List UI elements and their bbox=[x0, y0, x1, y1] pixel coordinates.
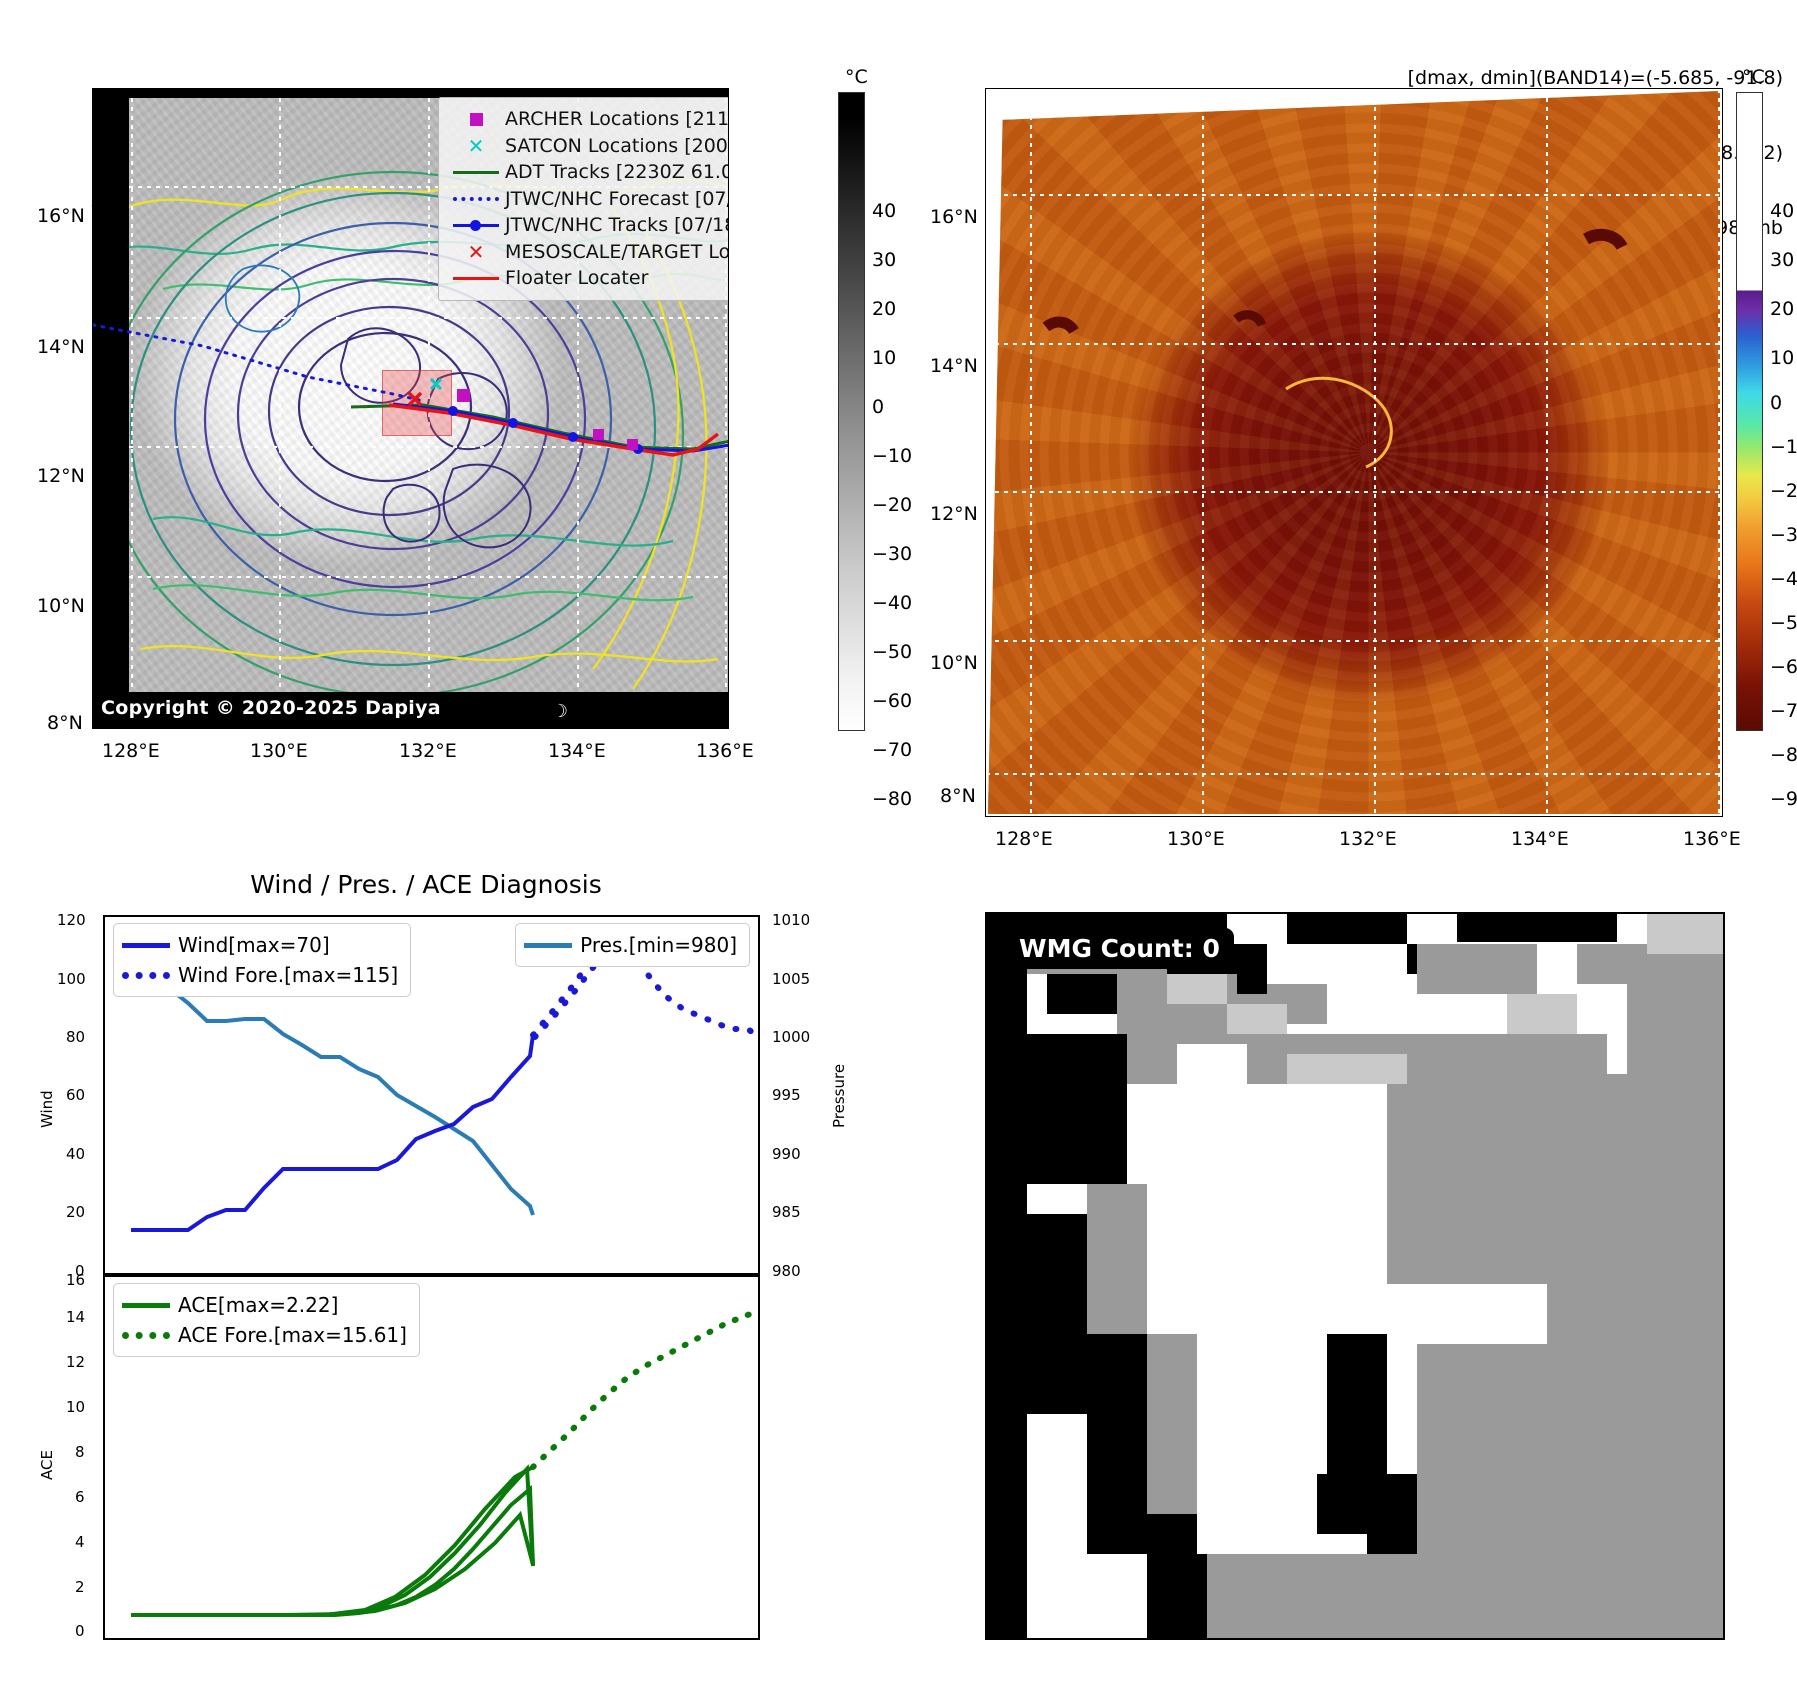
wind-pres-ace-title: Wind / Pres. / ACE Diagnosis bbox=[92, 870, 760, 899]
p1-ytick-12N: 12°N bbox=[37, 465, 85, 487]
panel-wmg-mask[interactable]: WMG Count: 0 bbox=[985, 912, 1725, 1640]
wind-axis-title: Wind bbox=[38, 1090, 56, 1128]
pres-ytick-1010: 1010 bbox=[772, 911, 810, 929]
p2-graticule-130E bbox=[1202, 89, 1204, 816]
p2-cbtick-12: −80 bbox=[1770, 744, 1797, 766]
p2-cbtick-4: 0 bbox=[1770, 392, 1782, 414]
p1-cbtick-4: 0 bbox=[872, 396, 884, 418]
awv-eye-features bbox=[986, 89, 1723, 817]
legend-item-floater[interactable]: Floater Locater bbox=[447, 265, 729, 292]
dashboard-root: HIMAWARI-8 BAND14-DIAS TARGET AREA Time:… bbox=[0, 0, 1797, 1690]
p1-cbtick-5: −10 bbox=[872, 445, 912, 467]
p2-ytick-12N: 12°N bbox=[930, 503, 978, 525]
ace-ytick-4: 4 bbox=[75, 1533, 85, 1551]
wmg-mask-image bbox=[987, 914, 1723, 1638]
p1-colorbar bbox=[838, 92, 865, 731]
moon-phase-icon: ☽ bbox=[552, 701, 568, 722]
legend-item-satcon[interactable]: ✕ SATCON Locations [2000Z 71 982] bbox=[447, 133, 729, 160]
p1-xtick-136E: 136°E bbox=[696, 740, 754, 762]
legend-label-jtwc-forecast: JTWC/NHC Forecast [07/1800Z] bbox=[505, 186, 729, 213]
p2-cbtick-8: −40 bbox=[1770, 568, 1797, 590]
ace-ytick-12: 12 bbox=[66, 1353, 85, 1371]
wind-forecast-line-icon bbox=[122, 972, 178, 979]
p1-colorbar-unit: °C bbox=[845, 66, 868, 88]
legend-item-wind[interactable]: Wind[max=70] bbox=[122, 930, 398, 960]
p2-cbtick-6: −20 bbox=[1770, 480, 1797, 502]
p2-cbtick-13: −90 bbox=[1770, 788, 1797, 810]
p1-cbtick-6: −20 bbox=[872, 494, 912, 516]
p2-cbtick-3: 10 bbox=[1770, 347, 1794, 369]
pres-ytick-985: 985 bbox=[772, 1203, 801, 1221]
p1-cbtick-3: 10 bbox=[872, 347, 896, 369]
p2-graticule-128E bbox=[1030, 89, 1032, 816]
p2-cbtick-1: 30 bbox=[1770, 249, 1794, 271]
ace-ytick-16: 16 bbox=[66, 1271, 85, 1289]
panel-awv-enhanced[interactable] bbox=[985, 88, 1723, 817]
legend-item-jtwc-tracks[interactable]: JTWC/NHC Tracks [07/1800Z] bbox=[447, 212, 729, 239]
wind-ytick-20: 20 bbox=[66, 1203, 85, 1221]
p2-colorbar bbox=[1736, 92, 1763, 731]
wind-ytick-80: 80 bbox=[66, 1028, 85, 1046]
copyright-notice: Copyright © 2020-2025 Dapiya bbox=[101, 697, 441, 719]
p2-cbtick-9: −50 bbox=[1770, 612, 1797, 634]
pressure-legend[interactable]: Pres.[min=980] bbox=[515, 923, 750, 967]
legend-item-ace-forecast[interactable]: ACE Fore.[max=15.61] bbox=[122, 1320, 407, 1350]
pres-ytick-995: 995 bbox=[772, 1086, 801, 1104]
p2-xtick-128E: 128°E bbox=[995, 828, 1053, 850]
p1-ytick-14N: 14°N bbox=[37, 336, 85, 358]
p2-graticule-14N bbox=[986, 343, 1722, 345]
blue-dotted-line-icon bbox=[447, 197, 505, 201]
wind-ytick-60: 60 bbox=[66, 1086, 85, 1104]
panel-ir-target-area[interactable]: ☽ Copyright © 2020-2025 Dapiya ARCHER Lo… bbox=[92, 88, 729, 729]
p1-xtick-134E: 134°E bbox=[548, 740, 606, 762]
blue-line-marker-icon bbox=[447, 224, 505, 227]
p2-colorbar-unit: °C bbox=[1742, 66, 1765, 88]
legend-label-wind: Wind[max=70] bbox=[178, 930, 330, 960]
chart-ace[interactable]: ACE[max=2.22] ACE Fore.[max=15.61] bbox=[103, 1275, 760, 1640]
green-solid-line-icon bbox=[447, 171, 505, 174]
ace-ytick-8: 8 bbox=[75, 1443, 85, 1461]
wind-ytick-40: 40 bbox=[66, 1145, 85, 1163]
ace-ytick-10: 10 bbox=[66, 1398, 85, 1416]
legend-item-jtwc-forecast[interactable]: JTWC/NHC Forecast [07/1800Z] bbox=[447, 186, 729, 213]
ace-axis-title: ACE bbox=[38, 1450, 56, 1480]
p2-cbtick-10: −60 bbox=[1770, 656, 1797, 678]
p2-cbtick-5: −10 bbox=[1770, 436, 1797, 458]
p2-graticule-10N bbox=[986, 640, 1722, 642]
legend-label-pressure: Pres.[min=980] bbox=[580, 930, 737, 960]
pres-ytick-990: 990 bbox=[772, 1145, 801, 1163]
p1-ytick-10N: 10°N bbox=[37, 595, 85, 617]
wmg-count-badge: WMG Count: 0 bbox=[1005, 928, 1234, 969]
legend-label-ace: ACE[max=2.22] bbox=[178, 1290, 338, 1320]
legend-label-wind-forecast: Wind Fore.[max=115] bbox=[178, 960, 398, 990]
p2-cbtick-0: 40 bbox=[1770, 200, 1794, 222]
p1-cbtick-9: −50 bbox=[872, 641, 912, 663]
p2-xtick-136E: 136°E bbox=[1683, 828, 1741, 850]
ace-legend[interactable]: ACE[max=2.22] ACE Fore.[max=15.61] bbox=[113, 1283, 420, 1357]
p2-graticule-8N bbox=[986, 773, 1722, 775]
legend-item-pressure[interactable]: Pres.[min=980] bbox=[524, 930, 737, 960]
legend-item-ace[interactable]: ACE[max=2.22] bbox=[122, 1290, 407, 1320]
p1-ytick-8N: 8°N bbox=[47, 712, 83, 734]
p2-xtick-132E: 132°E bbox=[1339, 828, 1397, 850]
p2-graticule-134E bbox=[1546, 89, 1548, 816]
red-x-marker-icon: ✕ bbox=[447, 242, 505, 262]
p2-ytick-8N: 8°N bbox=[940, 785, 976, 807]
legend-label-mesoscale: MESOSCALE/TARGET Location bbox=[505, 239, 729, 266]
p2-graticule-132E bbox=[1374, 89, 1376, 816]
p1-cbtick-0: 40 bbox=[872, 200, 896, 222]
p1-cbtick-12: −80 bbox=[872, 788, 912, 810]
legend-label-archer: ARCHER Locations [2118Z] bbox=[505, 106, 729, 133]
ace-forecast-line-icon bbox=[122, 1332, 178, 1339]
legend-label-satcon: SATCON Locations [2000Z 71 982] bbox=[505, 133, 729, 160]
chart-wind-pressure[interactable]: Wind[max=70] Wind Fore.[max=115] Pres.[m… bbox=[103, 915, 760, 1275]
p2-ytick-10N: 10°N bbox=[930, 652, 978, 674]
legend-item-wind-forecast[interactable]: Wind Fore.[max=115] bbox=[122, 960, 398, 990]
p1-xtick-130E: 130°E bbox=[250, 740, 308, 762]
p1-cbtick-10: −60 bbox=[872, 690, 912, 712]
pressure-line-icon bbox=[524, 943, 580, 948]
p1-xtick-132E: 132°E bbox=[399, 740, 457, 762]
ace-ytick-14: 14 bbox=[66, 1308, 85, 1326]
p2-cbtick-7: −30 bbox=[1770, 524, 1797, 546]
ace-ytick-2: 2 bbox=[75, 1578, 85, 1596]
wind-line-icon bbox=[122, 943, 178, 948]
p2-ytick-14N: 14°N bbox=[930, 355, 978, 377]
p1-cbtick-1: 30 bbox=[872, 249, 896, 271]
ace-line-icon bbox=[122, 1303, 178, 1308]
pres-ytick-1005: 1005 bbox=[772, 970, 810, 988]
p2-ytick-16N: 16°N bbox=[930, 206, 978, 228]
legend-label-adt: ADT Tracks [2230Z 61.0 986.6] bbox=[505, 159, 729, 186]
p2-cbtick-11: −70 bbox=[1770, 700, 1797, 722]
magenta-square-marker-icon bbox=[447, 113, 505, 126]
pressure-axis-title: Pressure bbox=[830, 1064, 848, 1128]
p2-graticule-136E bbox=[1718, 89, 1720, 816]
p2-xtick-134E: 134°E bbox=[1511, 828, 1569, 850]
p1-cbtick-8: −40 bbox=[872, 592, 912, 614]
legend-item-archer[interactable]: ARCHER Locations [2118Z] bbox=[447, 106, 729, 133]
legend-label-jtwc-tracks: JTWC/NHC Tracks [07/1800Z] bbox=[505, 212, 729, 239]
p1-cbtick-2: 20 bbox=[872, 298, 896, 320]
cyan-x-marker-icon: ✕ bbox=[447, 136, 505, 156]
pres-ytick-980: 980 bbox=[772, 1262, 801, 1280]
legend-label-floater: Floater Locater bbox=[505, 265, 648, 292]
p1-xtick-128E: 128°E bbox=[102, 740, 160, 762]
p1-ytick-16N: 16°N bbox=[37, 205, 85, 227]
wind-ytick-120: 120 bbox=[57, 911, 86, 929]
p2-cbtick-2: 20 bbox=[1770, 298, 1794, 320]
ace-ytick-6: 6 bbox=[75, 1488, 85, 1506]
legend-item-mesoscale[interactable]: ✕ MESOSCALE/TARGET Location bbox=[447, 239, 729, 266]
p1-cbtick-7: −30 bbox=[872, 543, 912, 565]
p2-graticule-12N bbox=[986, 491, 1722, 493]
p2-graticule-16N bbox=[986, 194, 1722, 196]
p2-xtick-130E: 130°E bbox=[1167, 828, 1225, 850]
panel1-legend[interactable]: ARCHER Locations [2118Z] ✕ SATCON Locati… bbox=[438, 97, 729, 301]
legend-label-ace-forecast: ACE Fore.[max=15.61] bbox=[178, 1320, 407, 1350]
legend-item-adt[interactable]: ADT Tracks [2230Z 61.0 986.6] bbox=[447, 159, 729, 186]
p1-cbtick-11: −70 bbox=[872, 739, 912, 761]
wind-legend[interactable]: Wind[max=70] Wind Fore.[max=115] bbox=[113, 923, 411, 997]
ace-ytick-0: 0 bbox=[75, 1622, 85, 1640]
pres-ytick-1000: 1000 bbox=[772, 1028, 810, 1046]
red-solid-line-icon bbox=[447, 277, 505, 280]
wind-ytick-100: 100 bbox=[57, 970, 86, 988]
